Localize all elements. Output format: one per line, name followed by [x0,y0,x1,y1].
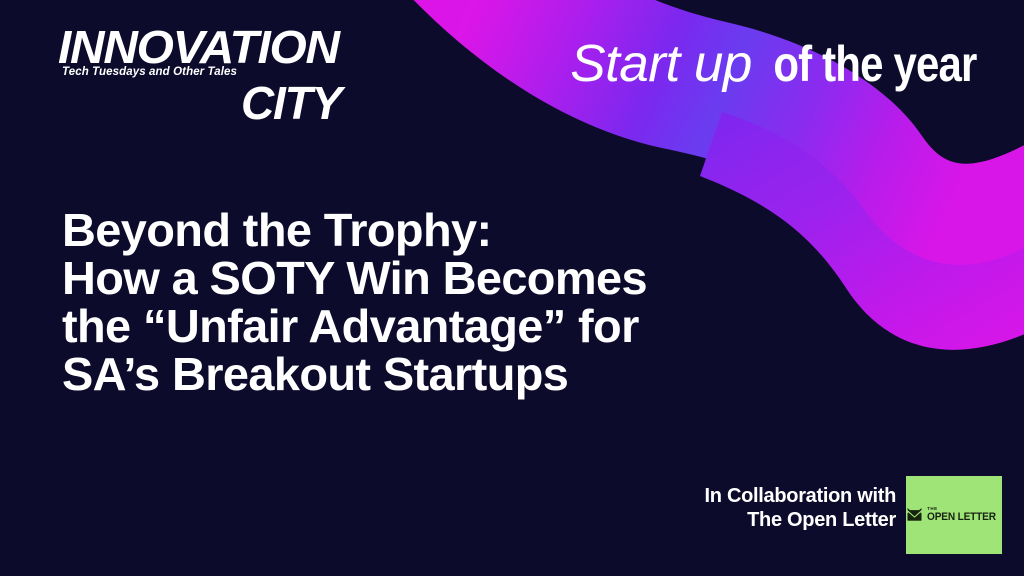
partner-name-label: OPEN LETTER [927,512,996,523]
headline-line-2: How a SOTY Win Becomes [62,254,909,302]
collaboration-credit: In Collaboration with The Open Letter [705,484,896,532]
partner-wordmark: THE OPEN LETTER [927,507,1002,524]
headline-line-3: the “Unfair Advantage” for [62,302,909,350]
collaboration-line-2: The Open Letter [705,508,896,532]
award-lockup: Start up of the year [572,36,996,92]
partner-logo-badge: THE OPEN LETTER [906,476,1002,554]
headline-line-4: SA’s Breakout Startups [62,350,909,398]
page-title: Beyond the Trophy: How a SOTY Win Become… [62,206,892,398]
partner-logo-inner: THE OPEN LETTER [906,507,1002,524]
headline-line-1: Beyond the Trophy: [62,206,909,254]
collaboration-line-1: In Collaboration with [705,484,896,508]
brand-tagline: Tech Tuesdays and Other Tales [62,66,237,78]
envelope-icon [906,508,923,522]
brand-logo: INNOVATION Tech Tuesdays and Other Tales… [58,24,358,124]
brand-word-innovation: INNOVATION [58,24,339,70]
award-script-text: Start up [570,36,752,92]
presentation-slide: INNOVATION Tech Tuesdays and Other Tales… [0,0,1024,576]
brand-word-city: CITY [58,80,341,126]
award-bold-text: of the year [773,36,976,92]
